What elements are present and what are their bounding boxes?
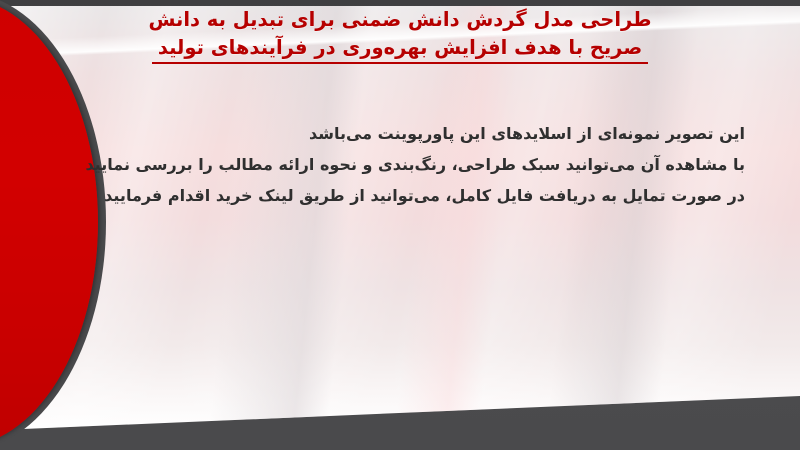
slide-title: طراحی مدل گردش دانش ضمنی برای تبدیل به د… [0, 6, 800, 64]
slide-title-line-2: صریح با هدف افزایش بهره‌وری در فرآیندهای… [152, 34, 648, 65]
slide-title-line-1: طراحی مدل گردش دانش ضمنی برای تبدیل به د… [0, 6, 800, 34]
slide-title-line-2-wrapper: صریح با هدف افزایش بهره‌وری در فرآیندهای… [0, 34, 800, 65]
body-line-1: این تصویر نمونه‌ای از اسلایدهای این پاور… [120, 118, 745, 149]
content-panel-streaks [0, 6, 800, 430]
body-line-2: با مشاهده آن می‌توانید سبک طراحی، رنگ‌بن… [120, 149, 745, 180]
content-panel [0, 6, 800, 430]
slide-body: این تصویر نمونه‌ای از اسلایدهای این پاور… [120, 118, 745, 212]
presentation-slide: طراحی مدل گردش دانش ضمنی برای تبدیل به د… [0, 0, 800, 450]
body-line-3: در صورت تمایل به دریافت فایل کامل، می‌تو… [120, 180, 745, 211]
